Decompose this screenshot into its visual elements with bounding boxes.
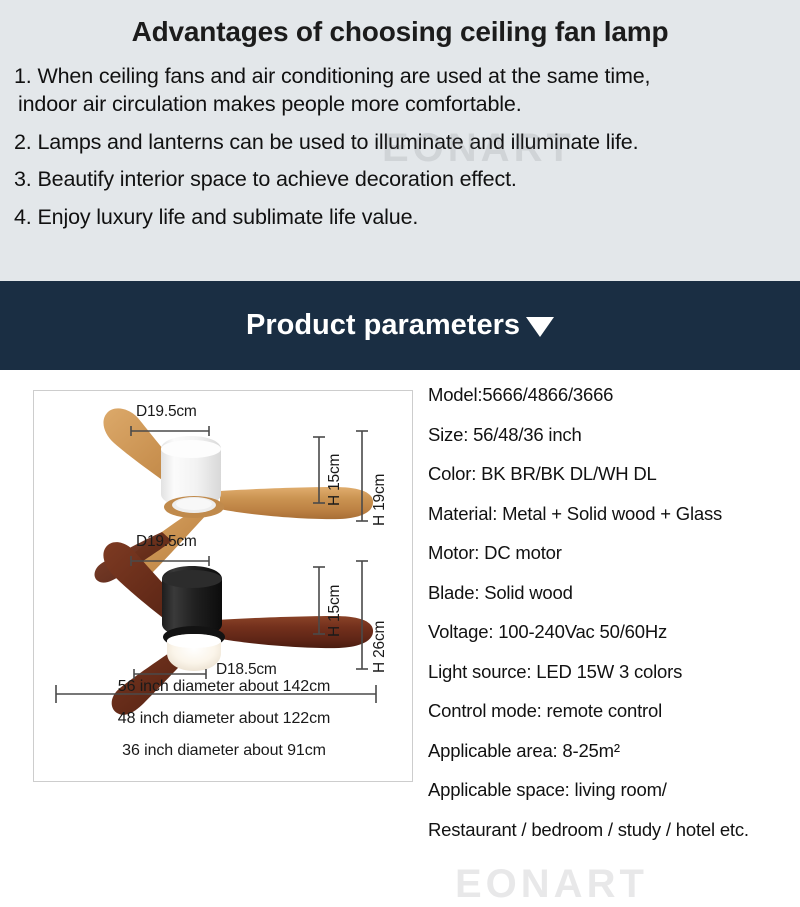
product-parameters-banner: Product parameters	[0, 281, 800, 370]
banner-title: Product parameters	[246, 309, 520, 342]
led-diameter-label: D18.5cm	[216, 661, 277, 679]
advantage-item-3: 3. Beautify interior space to achieve de…	[14, 169, 800, 191]
parameters-content: D19.5cm H 15cm H 19cm D19.5cm H 15cm H 2…	[0, 370, 800, 800]
spec-light-source: Light source: LED 15W 3 colors	[428, 663, 798, 682]
spec-size: Size: 56/48/36 inch	[428, 426, 798, 445]
size-caption-48: 48 inch diameter about 122cm	[34, 711, 413, 727]
spec-applicable-space-continued: Restaurant / bedroom / study / hotel etc…	[428, 821, 798, 840]
spec-material: Material: Metal + Solid wood + Glass	[428, 505, 798, 524]
top-fan-diameter-label: D19.5cm	[136, 403, 197, 421]
spec-color: Color: BK BR/BK DL/WH DL	[428, 465, 798, 484]
specifications-list: Model:5666/4866/3666 Size: 56/48/36 inch…	[428, 386, 798, 860]
spec-model: Model:5666/4866/3666	[428, 386, 798, 405]
spec-voltage: Voltage: 100-240Vac 50/60Hz	[428, 623, 798, 642]
advantage-item-4: 4. Enjoy luxury life and sublimate life …	[14, 207, 800, 229]
advantage-item-2: 2. Lamps and lanterns can be used to ill…	[14, 132, 800, 154]
caret-down-icon	[526, 317, 554, 337]
banner-content: Product parameters	[246, 309, 554, 342]
bottom-fan-outer-height-label: H 26cm	[371, 621, 389, 673]
advantages-list: 1. When ceiling fans and air conditionin…	[0, 66, 800, 229]
spec-control-mode: Control mode: remote control	[428, 702, 798, 721]
advantages-title: Advantages of choosing ceiling fan lamp	[0, 0, 800, 48]
top-fan-inner-height-label: H 15cm	[326, 454, 344, 506]
size-captions: 56 inch diameter about 142cm 48 inch dia…	[34, 679, 413, 775]
watermark-specs: EONART	[455, 862, 648, 907]
size-caption-56: 56 inch diameter about 142cm	[34, 679, 413, 695]
product-infographic: Advantages of choosing ceiling fan lamp …	[0, 0, 800, 800]
spec-applicable-area: Applicable area: 8-25m²	[428, 742, 798, 761]
spec-applicable-space: Applicable space: living room/	[428, 781, 798, 800]
advantage-item-1-continued: indoor air circulation makes people more…	[14, 94, 800, 116]
advantage-item-1: 1. When ceiling fans and air conditionin…	[14, 66, 800, 88]
spec-motor: Motor: DC motor	[428, 544, 798, 563]
bottom-fan-diameter-label: D19.5cm	[136, 533, 197, 551]
size-caption-36: 36 inch diameter about 91cm	[34, 743, 413, 759]
top-fan-outer-height-label: H 19cm	[371, 474, 389, 526]
bottom-fan-inner-height-label: H 15cm	[326, 585, 344, 637]
dimension-diagram-panel: D19.5cm H 15cm H 19cm D19.5cm H 15cm H 2…	[33, 390, 413, 782]
spec-blade: Blade: Solid wood	[428, 584, 798, 603]
advantages-section: Advantages of choosing ceiling fan lamp …	[0, 0, 800, 281]
